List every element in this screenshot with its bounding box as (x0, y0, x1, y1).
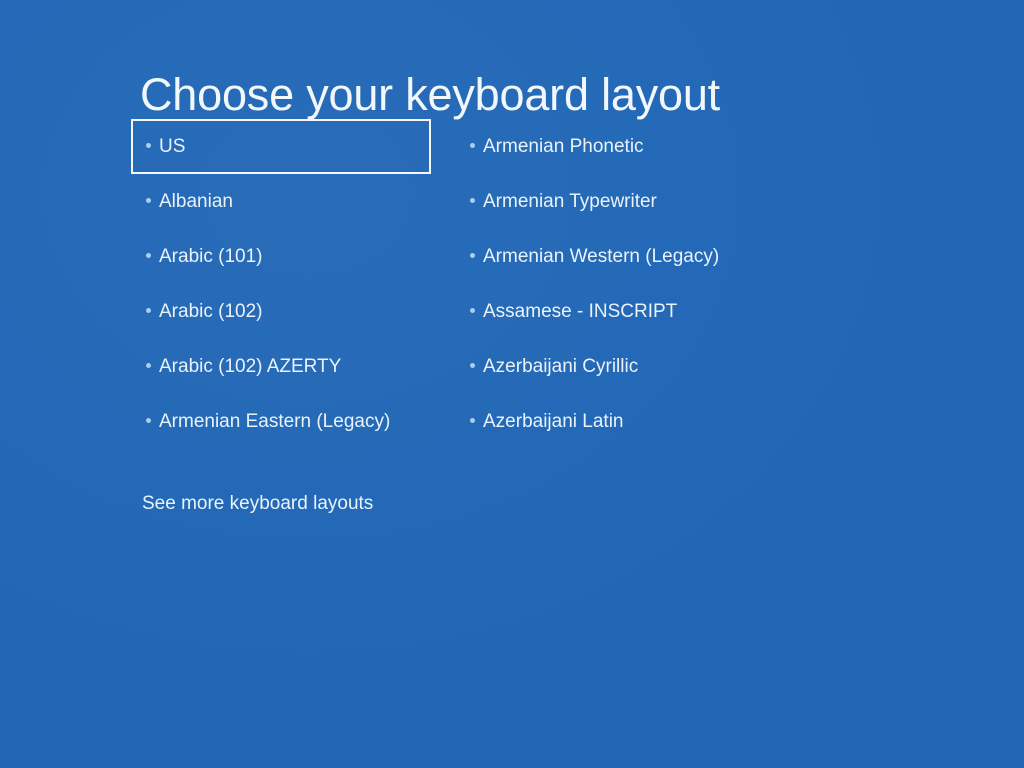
keyboard-layout-option[interactable]: Armenian Western (Legacy) (455, 229, 785, 284)
keyboard-layout-option-label: Armenian Phonetic (483, 135, 644, 159)
keyboard-layout-option-label: Arabic (102) (159, 300, 263, 324)
keyboard-layout-option-label: Armenian Eastern (Legacy) (159, 410, 390, 434)
keyboard-layout-option-label: Arabic (102) AZERTY (159, 355, 341, 379)
bullet-icon (470, 418, 475, 423)
keyboard-layout-column-right: Armenian PhoneticArmenian TypewriterArme… (455, 119, 785, 449)
keyboard-layout-option-label: Azerbaijani Latin (483, 410, 623, 434)
bullet-icon (146, 418, 151, 423)
keyboard-layout-screen: Choose your keyboard layout USAlbanianAr… (0, 0, 1024, 768)
keyboard-layout-option-label: US (159, 135, 185, 159)
keyboard-layout-option[interactable]: Armenian Eastern (Legacy) (131, 394, 431, 449)
bullet-icon (146, 143, 151, 148)
keyboard-layout-option-label: Azerbaijani Cyrillic (483, 355, 638, 379)
bullet-icon (146, 253, 151, 258)
bullet-icon (146, 363, 151, 368)
keyboard-layout-option[interactable]: Armenian Typewriter (455, 174, 785, 229)
bullet-icon (470, 198, 475, 203)
keyboard-layout-option[interactable]: Arabic (101) (131, 229, 431, 284)
keyboard-layout-option[interactable]: US (131, 119, 431, 174)
see-more-keyboard-layouts-link[interactable]: See more keyboard layouts (142, 492, 373, 516)
bullet-icon (146, 308, 151, 313)
keyboard-layout-option[interactable]: Azerbaijani Latin (455, 394, 785, 449)
bullet-icon (470, 363, 475, 368)
keyboard-layout-option-label: Assamese - INSCRIPT (483, 300, 677, 324)
keyboard-layout-option[interactable]: Assamese - INSCRIPT (455, 284, 785, 339)
keyboard-layout-option[interactable]: Arabic (102) AZERTY (131, 339, 431, 394)
keyboard-layout-option[interactable]: Azerbaijani Cyrillic (455, 339, 785, 394)
keyboard-layout-option-label: Armenian Typewriter (483, 190, 657, 214)
keyboard-layout-option-label: Arabic (101) (159, 245, 263, 269)
bullet-icon (470, 253, 475, 258)
bullet-icon (470, 143, 475, 148)
keyboard-layout-option[interactable]: Arabic (102) (131, 284, 431, 339)
keyboard-layout-option[interactable]: Armenian Phonetic (455, 119, 785, 174)
bullet-icon (470, 308, 475, 313)
bullet-icon (146, 198, 151, 203)
keyboard-layout-option-label: Armenian Western (Legacy) (483, 245, 719, 269)
page-title: Choose your keyboard layout (140, 67, 720, 123)
keyboard-layout-option-label: Albanian (159, 190, 233, 214)
keyboard-layout-column-left: USAlbanianArabic (101)Arabic (102)Arabic… (131, 119, 431, 449)
keyboard-layout-option[interactable]: Albanian (131, 174, 431, 229)
